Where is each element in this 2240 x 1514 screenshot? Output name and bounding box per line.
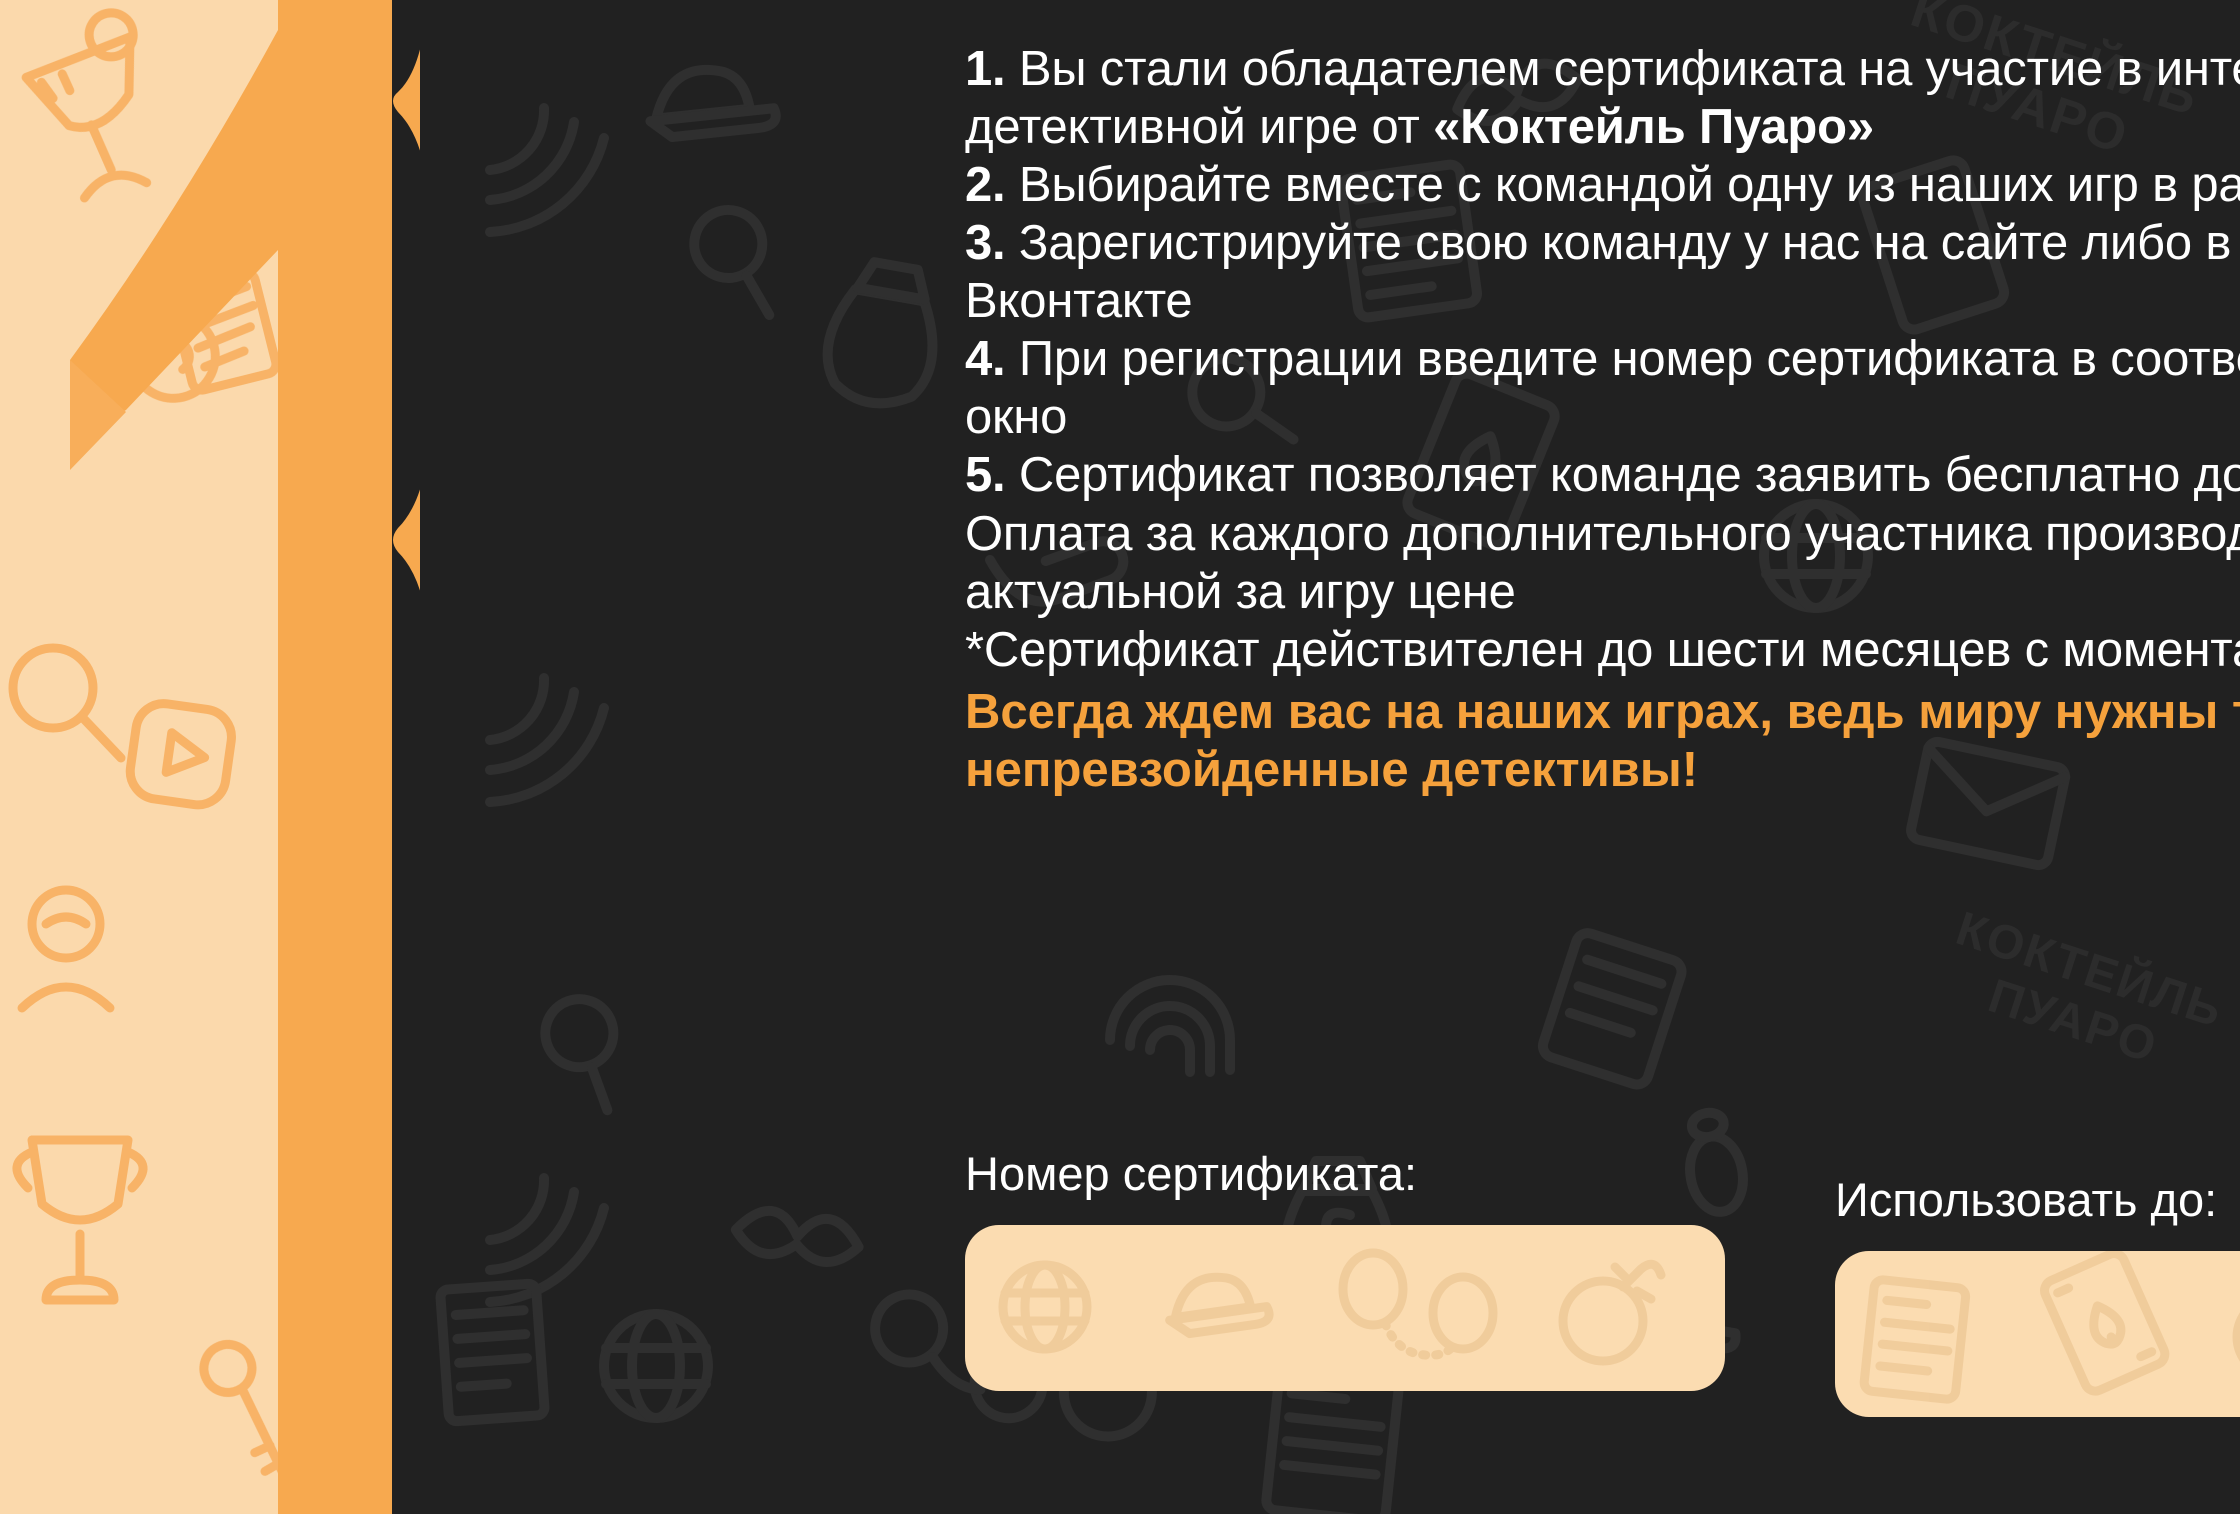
magnifier-icon — [524, 988, 646, 1110]
valid-until-field-icon-pattern — [1835, 1251, 2240, 1417]
rule-5-number: 5. — [965, 448, 1005, 502]
valid-until-group: Использовать до: — [1835, 1176, 2240, 1417]
sound-waves-icon — [490, 678, 604, 802]
rule-4-number: 4. — [965, 332, 1005, 386]
rule-2-number: 2. — [965, 158, 1005, 212]
newspaper-icon — [1863, 1279, 1966, 1400]
magnifier-icon — [680, 202, 793, 315]
rule-3-number: 3. — [965, 216, 1005, 270]
certificate-number-group: Номер сертификата: — [965, 1150, 1725, 1391]
certificate-card: КОКТЕЙЛЬ ПУАРО КОКТЕЙЛЬ ПУАРО 1. Вы стал… — [0, 0, 2240, 1514]
rule-item-4: 4. При регистрации введите номер сертифи… — [965, 330, 2240, 446]
certificate-number-input[interactable] — [965, 1225, 1725, 1391]
rule-item-1: 1. Вы стали обладателем сертификата на у… — [965, 40, 2240, 156]
valid-until-input[interactable] — [1835, 1251, 2240, 1417]
detective-avatar-icon — [22, 890, 110, 1008]
trophy-icon — [17, 1140, 143, 1300]
detective-hat-icon — [1165, 1270, 1271, 1336]
handcuffs-icon — [1343, 1253, 1493, 1355]
valid-until-label: Использовать до: — [1835, 1176, 2240, 1223]
rule-item-5: 5. Сертификат позволяет команде заявить … — [965, 446, 2240, 620]
magnifier-icon — [13, 648, 121, 758]
rule-item-3: 3. Зарегистрируйте свою команду у нас на… — [965, 214, 2240, 330]
rule-1-number: 1. — [965, 42, 1005, 96]
certificate-instructions: 1. Вы стали обладателем сертификата на у… — [965, 40, 2240, 799]
ribbon-bow-graphic — [30, 0, 330, 560]
certificate-form: Номер сертификата: — [965, 1150, 2240, 1480]
left-decor-panel — [0, 0, 420, 1514]
certificate-number-label: Номер сертификата: — [965, 1150, 1725, 1197]
bomb-icon — [1563, 1264, 1661, 1361]
sound-waves-icon — [490, 108, 604, 232]
brand-watermark-mid: КОКТЕЙЛЬ ПУАРО — [1933, 900, 2230, 1089]
rule-2-text: Выбирайте вместе с командой одну из наши… — [1005, 158, 2240, 212]
footnote-text: *Сертификат действителен до шести месяце… — [965, 621, 2240, 679]
call-to-action-text: Всегда ждем вас на наших играх, ведь мир… — [965, 683, 2240, 799]
mustache-icon — [733, 1206, 862, 1266]
rule-1-brand: «Коктейль Пуаро» — [1433, 100, 1874, 154]
globe-icon — [604, 1314, 708, 1418]
rule-4-text: При регистрации введите номер сертификат… — [965, 332, 2240, 444]
money-bag-icon — [820, 257, 947, 412]
scroll-icon — [1540, 930, 1685, 1088]
fingerprint-icon — [1110, 980, 1230, 1072]
main-dark-panel: КОКТЕЙЛЬ ПУАРО КОКТЕЙЛЬ ПУАРО 1. Вы стал… — [420, 0, 2240, 1514]
rule-item-2: 2. Выбирайте вместе с командой одну из н… — [965, 156, 2240, 214]
certificate-number-field-icon-pattern — [965, 1225, 1725, 1391]
globe-icon — [1003, 1265, 1087, 1349]
rule-5-text: Сертификат позволяет команде заявить бес… — [965, 448, 2240, 618]
detective-hat-icon — [646, 63, 777, 139]
play-button-icon — [127, 700, 235, 808]
rule-3-text: Зарегистрируйте свою команду у нас на са… — [965, 216, 2240, 328]
rules-list: 1. Вы стали обладателем сертификата на у… — [965, 40, 2240, 679]
playing-card-icon — [2041, 1251, 2168, 1395]
